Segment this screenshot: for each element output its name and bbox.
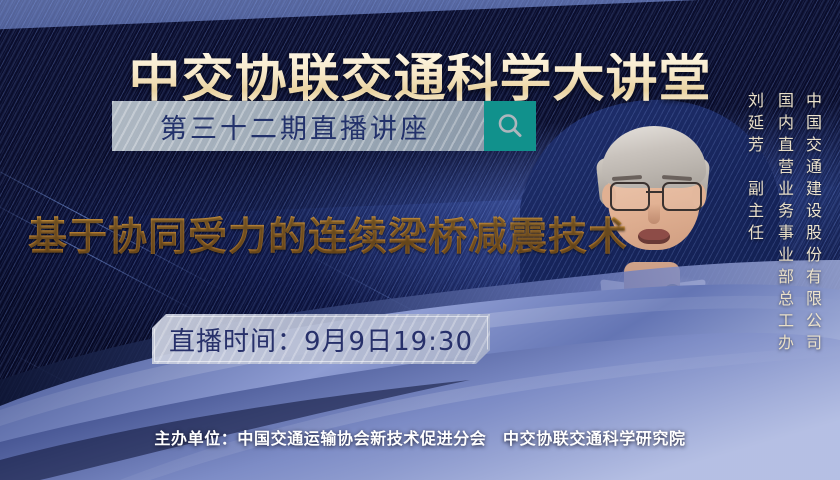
broadcast-time-text: 直播时间：9月9日19:30 xyxy=(169,321,473,358)
search-icon xyxy=(495,111,525,141)
nose xyxy=(648,204,660,224)
episode-label: 第三十二期直播讲座 xyxy=(112,107,484,146)
lecture-headline: 基于协同受力的连续梁桥减震技术 xyxy=(28,206,628,262)
page-title: 中交协联交通科学大讲堂 xyxy=(0,53,840,105)
mouth xyxy=(638,229,670,244)
speaker-department: 国内直营业务事业部总工办 xyxy=(768,92,796,356)
glasses-lens-right xyxy=(662,182,702,211)
speaker-organization: 中国交通建设股份有限公司 xyxy=(796,92,824,356)
live-lecture-poster: 中交协联交通科学大讲堂 第三十二期直播讲座 基于协同受力的连续梁桥减震技术 直播… xyxy=(0,0,840,480)
speaker-credits: 刘延芳 副主任 国内直营业务事业部总工办 中国交通建设股份有限公司 xyxy=(738,92,824,356)
organizers-footer: 主办单位：中国交通运输协会新技术促进分会 中交协联交通科学研究院 xyxy=(0,425,840,449)
broadcast-time-badge: 直播时间：9月9日19:30 xyxy=(152,314,490,364)
search-button[interactable] xyxy=(484,101,536,151)
episode-banner: 第三十二期直播讲座 xyxy=(112,101,536,151)
speaker-name-title: 刘延芳 副主任 xyxy=(738,92,766,246)
glasses-bridge xyxy=(646,191,662,193)
